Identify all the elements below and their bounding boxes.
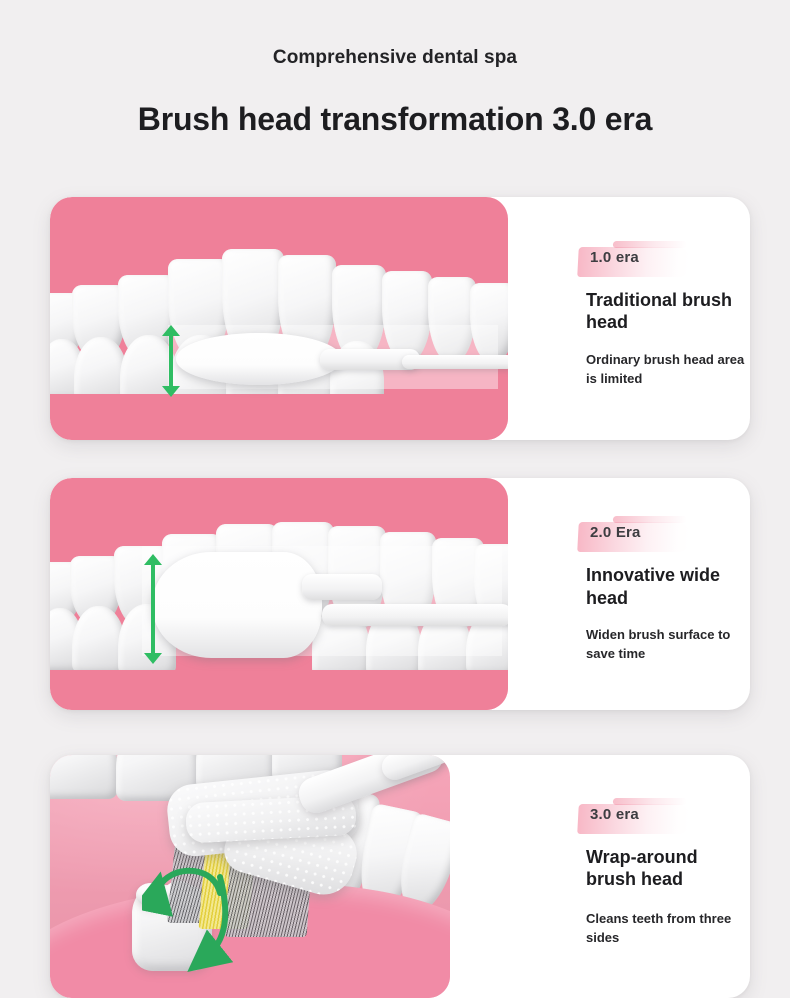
measure-arrow-icon: [160, 325, 182, 397]
era-label: 3.0 era: [586, 804, 643, 825]
card-title: Innovative wide head: [586, 564, 750, 609]
card-subtitle: Cleans teeth from three sides: [586, 910, 750, 948]
brush-handle: [322, 604, 508, 626]
gum-lower-strip: [50, 670, 508, 710]
gum-lower-strip: [50, 394, 508, 440]
card-title: Traditional brush head: [586, 289, 750, 334]
page-eyebrow: Comprehensive dental spa: [0, 48, 790, 67]
era-label: 1.0 era: [586, 247, 643, 268]
tooth-upper-row: [50, 755, 118, 799]
era-badge: 2.0 Era: [586, 524, 645, 542]
era-badge: 1.0 era: [586, 249, 643, 267]
card-subtitle: Ordinary brush head area is limited: [586, 351, 750, 389]
card-era-1[interactable]: 1.0 era Traditional brush head Ordinary …: [50, 197, 750, 440]
card-subtitle: Widen brush surface to save time: [586, 626, 750, 664]
measure-arrow-icon: [142, 554, 164, 664]
era-label: 2.0 Era: [586, 522, 645, 543]
brush-handle: [402, 355, 508, 369]
illustration-innovative-wide-head: [50, 478, 508, 710]
brush-head-wide: [152, 552, 322, 658]
card-era-2[interactable]: 2.0 Era Innovative wide head Widen brush…: [50, 478, 750, 710]
card-era-3[interactable]: 3.0 era Wrap-around brush head Cleans te…: [50, 755, 750, 998]
card-text-pane: 1.0 era Traditional brush head Ordinary …: [508, 197, 750, 440]
card-text-pane: 2.0 Era Innovative wide head Widen brush…: [508, 478, 750, 710]
era-badge: 3.0 era: [586, 806, 643, 824]
molar-cusp: [136, 883, 166, 907]
brush-neck: [302, 574, 382, 600]
brush-head: [176, 333, 342, 385]
card-title: Wrap-around brush head: [586, 846, 750, 891]
page-title: Brush head transformation 3.0 era: [0, 103, 790, 135]
illustration-wrap-around-brush-head: [50, 755, 450, 998]
card-text-pane: 3.0 era Wrap-around brush head Cleans te…: [450, 755, 750, 998]
illustration-traditional-brush-head: [50, 197, 508, 440]
page-header: Comprehensive dental spa Brush head tran…: [0, 0, 790, 135]
